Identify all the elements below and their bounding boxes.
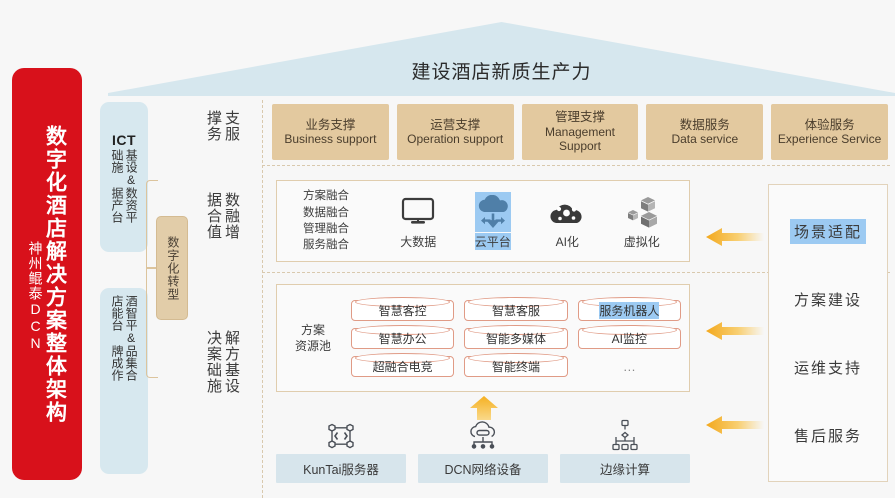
fusion-icon-cell[interactable]: 虚拟化: [611, 192, 673, 250]
support-services-row: 业务支撑Business support运营支撑Operation suppor…: [272, 104, 888, 160]
row-label-data-fusion: 数融增 据合值: [196, 192, 248, 240]
ict-col-left: 础施 据产台: [110, 149, 124, 223]
hotel-col-right: 酒智平&品集合: [124, 295, 138, 381]
resource-pool-title-line2: 资源池: [285, 338, 341, 354]
cloud-sync-icon: [475, 192, 511, 232]
horizontal-divider-1: [262, 165, 890, 166]
resource-pool-ellipsis: …: [578, 356, 681, 377]
support-service-label-en: Data service: [671, 132, 738, 146]
resource-pool-item-label: AI监控: [612, 330, 647, 347]
banner-sub-title: 神州鲲泰DCN: [29, 241, 43, 352]
ict-vertical-text: 基设&数资平 础施 据产台: [110, 149, 138, 223]
fusion-icon-cell[interactable]: 云平台: [462, 192, 524, 250]
support-service-label-zh: 数据服务: [680, 118, 730, 133]
fusion-icon-list: 大数据云平台AI化虚拟化: [381, 192, 679, 250]
fusion-icon-cell[interactable]: 大数据: [387, 192, 449, 250]
row-label-fusion-right: 数融增: [222, 192, 240, 240]
row-label-solution-infrastructure: 解方基设 决案础施: [196, 330, 248, 394]
service-lifecycle-item[interactable]: 运维支持: [790, 355, 866, 380]
fusion-text-item: 管理融合: [303, 221, 373, 237]
fusion-icon-label: 虚拟化: [624, 233, 660, 250]
support-service-card[interactable]: 业务支撑Business support: [272, 104, 389, 160]
fusion-text-item: 数据融合: [303, 205, 373, 221]
left-arrow-icon-3: [706, 414, 764, 436]
monitor-icon: [401, 192, 435, 232]
row-label-solution-left: 决案础施: [204, 330, 222, 394]
resource-pool-item-label: 智能终端: [492, 358, 540, 375]
infrastructure-label: KunTai服务器: [276, 454, 406, 483]
roof-title: 建设酒店新质生产力: [108, 22, 895, 96]
edge-compute-icon: [609, 418, 641, 454]
resource-pool-item-label: 智慧办公: [379, 330, 427, 347]
support-service-label-en: Management Support: [524, 125, 637, 153]
service-lifecycle-item[interactable]: 售后服务: [790, 423, 866, 448]
resource-pool-item[interactable]: 服务机器人: [578, 300, 681, 321]
infrastructure-label: 边缘计算: [560, 454, 690, 483]
ict-col-right: 基设&数资平: [124, 149, 138, 223]
support-service-label-en: Experience Service: [778, 132, 881, 146]
upward-arrow-icon: [466, 396, 502, 420]
ict-label: ICT: [112, 132, 136, 148]
hotel-col-left: 店能台 牌成作: [110, 295, 124, 381]
capability-box-hotel-platform[interactable]: 酒智平&品集合 店能台 牌成作: [100, 288, 148, 474]
vertical-divider: [262, 100, 263, 498]
infrastructure-label: DCN网络设备: [418, 454, 548, 483]
infrastructure-cell[interactable]: KunTai服务器: [276, 418, 406, 488]
support-service-card[interactable]: 体验服务Experience Service: [771, 104, 888, 160]
resource-pool-title-line1: 方案: [285, 322, 341, 338]
resource-pool-item-label: 超融合电竞: [373, 358, 433, 375]
support-service-card[interactable]: 管理支撑Management Support: [522, 104, 639, 160]
capability-box-ict[interactable]: ICT 基设&数资平 础施 据产台: [100, 102, 148, 252]
support-service-card[interactable]: 数据服务Data service: [646, 104, 763, 160]
data-fusion-panel: 方案融合数据融合管理融合服务融合 大数据云平台AI化虚拟化: [276, 180, 690, 262]
resource-pool-item[interactable]: 智能终端: [464, 356, 567, 377]
resource-pool-item-label: 智能多媒体: [486, 330, 546, 347]
cubes-icon: [624, 192, 660, 232]
resource-pool-item[interactable]: 超融合电竞: [351, 356, 454, 377]
support-service-label-zh: 业务支撑: [305, 118, 355, 133]
service-lifecycle-item[interactable]: 场景适配: [790, 219, 866, 244]
resource-pool-title: 方案 资源池: [285, 322, 341, 354]
fusion-text-item: 服务融合: [303, 237, 373, 253]
resource-pool-item[interactable]: 智能多媒体: [464, 328, 567, 349]
row-label-fusion-left: 据合值: [204, 192, 222, 240]
banner-main-title: 数字化酒店解决方案整体架构: [45, 125, 66, 424]
row-label-support-services: 支服 撑务: [196, 110, 248, 142]
fusion-icon-label: 云平台: [475, 233, 511, 250]
fusion-text-item: 方案融合: [303, 188, 373, 204]
architecture-diagram: 数字化酒店解决方案整体架构 神州鲲泰DCN 建设酒店新质生产力 ICT 基设&数…: [0, 0, 895, 498]
left-arrow-icon-2: [706, 320, 764, 342]
solution-resource-pool-panel: 方案 资源池 智慧客控智慧客服服务机器人智慧办公智能多媒体AI监控超融合电竞智能…: [276, 284, 690, 392]
fusion-icon-cell[interactable]: AI化: [536, 192, 598, 250]
resource-pool-item[interactable]: 智慧客控: [351, 300, 454, 321]
resource-pool-item-label: …: [623, 359, 636, 374]
infrastructure-row: KunTai服务器DCN网络设备边缘计算: [276, 418, 690, 488]
support-service-label-zh: 管理支撑: [555, 110, 605, 125]
row-label-support-left: 撑务: [204, 110, 222, 142]
service-lifecycle-panel: 场景适配方案建设运维支持售后服务: [768, 184, 888, 482]
resource-pool-item-label: 智慧客服: [492, 302, 540, 319]
support-service-label-zh: 运营支撑: [430, 118, 480, 133]
digital-transformation-pill[interactable]: 数字化转型: [156, 216, 188, 320]
resource-pool-item-label: 智慧客控: [379, 302, 427, 319]
title-banner: 数字化酒店解决方案整体架构 神州鲲泰DCN: [12, 68, 82, 480]
digital-transformation-label: 数字化转型: [165, 236, 179, 301]
row-label-solution-right: 解方基设: [222, 330, 240, 394]
infrastructure-cell[interactable]: 边缘计算: [560, 418, 690, 488]
row-label-support-right: 支服: [222, 110, 240, 142]
fusion-icon-label: 大数据: [400, 233, 436, 250]
roof-shape: 建设酒店新质生产力: [108, 22, 895, 96]
left-arrow-icon-1: [706, 226, 764, 248]
support-service-card[interactable]: 运营支撑Operation support: [397, 104, 514, 160]
resource-pool-item[interactable]: AI监控: [578, 328, 681, 349]
support-service-label-zh: 体验服务: [805, 118, 855, 133]
resource-pool-grid: 智慧客控智慧客服服务机器人智慧办公智能多媒体AI监控超融合电竞智能终端…: [347, 300, 681, 377]
service-lifecycle-item[interactable]: 方案建设: [790, 287, 866, 312]
network-cloud-icon: [465, 418, 501, 454]
resource-pool-item-label: 服务机器人: [599, 302, 659, 319]
support-service-label-en: Business support: [284, 132, 376, 146]
infrastructure-cell[interactable]: DCN网络设备: [418, 418, 548, 488]
ai-cloud-icon: [548, 192, 586, 232]
resource-pool-item[interactable]: 智慧办公: [351, 328, 454, 349]
fusion-text-list: 方案融合数据融合管理融合服务融合: [287, 188, 373, 253]
support-service-label-en: Operation support: [407, 132, 503, 146]
fusion-icon-label: AI化: [556, 233, 579, 250]
server-cluster-icon: [324, 418, 358, 454]
resource-pool-item[interactable]: 智慧客服: [464, 300, 567, 321]
